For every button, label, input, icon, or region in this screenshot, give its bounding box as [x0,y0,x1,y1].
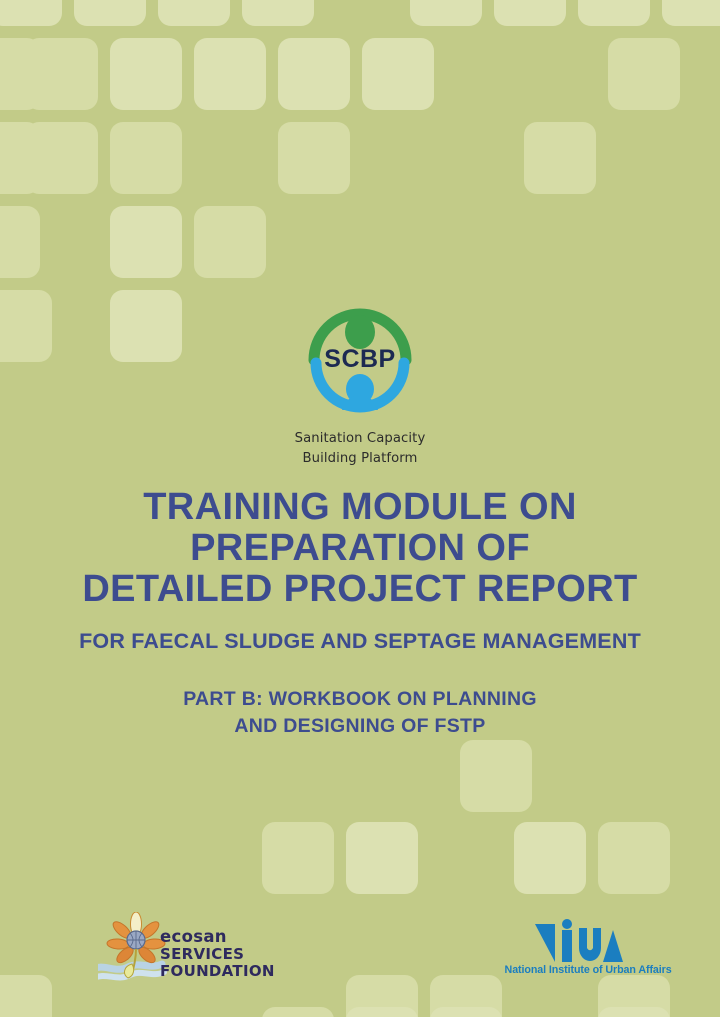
ecosan-wordmark: ecosan SERVICES FOUNDATION [160,928,275,981]
title-line-3: DETAILED PROJECT REPORT [0,569,720,610]
part-line-1: PART B: WORKBOOK ON PLANNING [0,686,720,713]
scbp-wordmark: SCBP [324,345,395,373]
part-line-2: AND DESIGNING OF FSTP [0,713,720,740]
niua-mark-icon [533,918,625,962]
niua-caption: National Institute of Urban Affairs [505,964,648,976]
scbp-caption-line2: Building Platform [0,449,720,469]
ecosan-line-3: FOUNDATION [160,963,275,981]
scbp-logo-block: SCBP Sanitation Capacity Building Platfo… [0,305,720,469]
ecosan-line-1: ecosan [160,928,275,946]
title-block: TRAINING MODULE ON PREPARATION OF DETAIL… [0,487,720,654]
title-line-1: TRAINING MODULE ON [0,487,720,528]
scbp-logo-icon: SCBP [304,305,416,417]
report-cover: SCBP Sanitation Capacity Building Platfo… [0,0,720,1017]
part-designation: PART B: WORKBOOK ON PLANNING AND DESIGNI… [0,686,720,740]
niua-logo: National Institute of Urban Affairs [500,918,652,986]
title-subtitle: FOR FAECAL SLUDGE AND SEPTAGE MANAGEMENT [0,628,720,654]
ecosan-services-foundation-logo: ecosan SERVICES FOUNDATION [98,912,268,990]
title-line-2: PREPARATION OF [0,528,720,569]
scbp-caption: Sanitation Capacity Building Platform [0,429,720,469]
scbp-caption-line1: Sanitation Capacity [0,429,720,449]
ecosan-line-2: SERVICES [160,946,275,964]
